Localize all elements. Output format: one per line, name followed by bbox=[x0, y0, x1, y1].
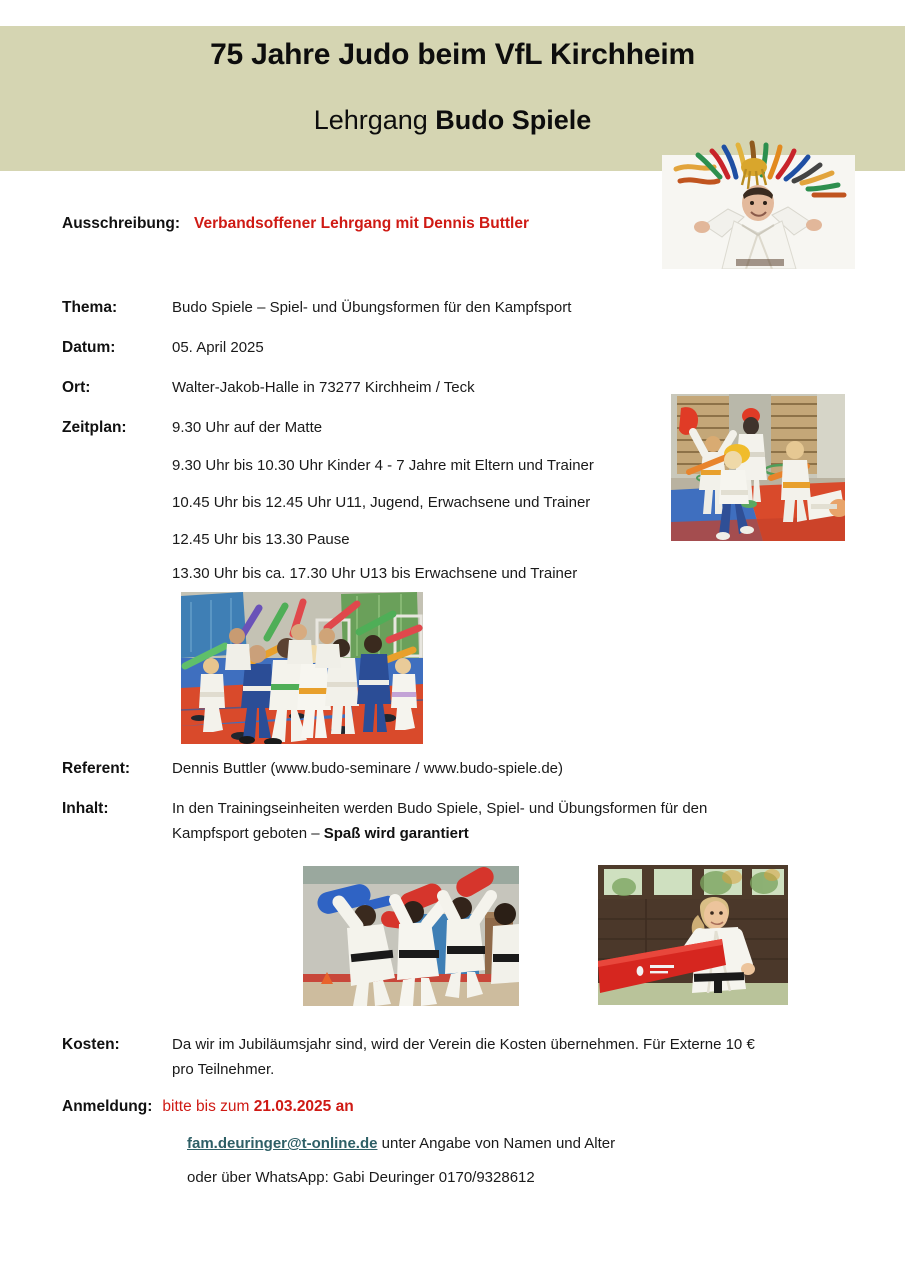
zeitplan-line-1: 9.30 Uhr auf der Matte bbox=[172, 419, 322, 436]
announcement-row: Ausschreibung: Verbandsoffener Lehrgang … bbox=[62, 215, 529, 233]
page-subtitle: Lehrgang Budo Spiele bbox=[0, 105, 905, 136]
ort-label: Ort: bbox=[62, 379, 172, 397]
announcement-value: Verbandsoffener Lehrgang mit Dennis Butt… bbox=[194, 215, 529, 233]
inhalt-line-2: Kampfsport geboten – Spaß wird garantier… bbox=[172, 825, 469, 842]
thema-row: Thema: Budo Spiele – Spiel- und Übungsfo… bbox=[62, 299, 571, 317]
zeitplan-line-3: 10.45 Uhr bis 12.45 Uhr U11, Jugend, Erw… bbox=[172, 494, 590, 511]
datum-value: 05. April 2025 bbox=[172, 339, 264, 356]
inhalt-row: Inhalt: bbox=[62, 800, 172, 818]
inhalt-line-2-bold: Spaß wird garantiert bbox=[324, 825, 469, 842]
children-judo-training-photo bbox=[671, 394, 845, 541]
datum-row: Datum: 05. April 2025 bbox=[62, 339, 264, 357]
black-belts-with-padded-batons-photo bbox=[303, 866, 519, 1006]
judoka-with-flying-belts-photo bbox=[662, 137, 855, 269]
woman-carrying-red-mat-photo bbox=[598, 865, 788, 1005]
anmeldung-label: Anmeldung: bbox=[62, 1098, 152, 1116]
anmeldung-row: Anmeldung: bitte bis zum 21.03.2025 an bbox=[62, 1098, 354, 1116]
anmeldung-whatsapp-line: oder über WhatsApp: Gabi Deuringer 0170/… bbox=[187, 1169, 535, 1186]
anmeldung-deadline: bitte bis zum 21.03.2025 an bbox=[162, 1098, 353, 1116]
announcement-label: Ausschreibung: bbox=[62, 215, 180, 233]
zeitplan-row: Zeitplan: bbox=[62, 419, 172, 437]
thema-label: Thema: bbox=[62, 299, 172, 317]
kosten-line-1: Da wir im Jubiläumsjahr sind, wird der V… bbox=[172, 1036, 755, 1053]
kosten-label: Kosten: bbox=[62, 1036, 172, 1054]
inhalt-line-2-regular: Kampfsport geboten – bbox=[172, 825, 324, 842]
datum-label: Datum: bbox=[62, 339, 172, 357]
thema-value: Budo Spiele – Spiel- und Übungsformen fü… bbox=[172, 299, 571, 316]
email-suffix-text: unter Angabe von Namen und Alter bbox=[377, 1135, 615, 1152]
page-title: 75 Jahre Judo beim VfL Kirchheim bbox=[0, 38, 905, 72]
ort-value: Walter-Jakob-Halle in 73277 Kirchheim / … bbox=[172, 379, 475, 396]
zeitplan-line-5: 13.30 Uhr bis ca. 17.30 Uhr U13 bis Erwa… bbox=[172, 565, 577, 582]
kosten-row: Kosten: bbox=[62, 1036, 172, 1054]
kosten-line-2: pro Teilnehmer. bbox=[172, 1061, 274, 1078]
page-bottom-margin bbox=[0, 1240, 905, 1280]
zeitplan-line-4: 12.45 Uhr bis 13.30 Pause bbox=[172, 531, 350, 548]
referent-value: Dennis Buttler (www.budo-seminare / www.… bbox=[172, 760, 563, 777]
ort-row: Ort: Walter-Jakob-Halle in 73277 Kirchhe… bbox=[62, 379, 475, 397]
anmeldung-deadline-regular: bitte bis zum bbox=[162, 1098, 253, 1115]
anmeldung-email-line: fam.deuringer@t-online.de unter Angabe v… bbox=[187, 1135, 615, 1152]
inhalt-line-1: In den Trainingseinheiten werden Budo Sp… bbox=[172, 800, 707, 817]
email-link[interactable]: fam.deuringer@t-online.de bbox=[187, 1135, 377, 1152]
inhalt-label: Inhalt: bbox=[62, 800, 172, 818]
referent-label: Referent: bbox=[62, 760, 172, 778]
anmeldung-deadline-bold: 21.03.2025 an bbox=[254, 1098, 354, 1115]
zeitplan-line-2: 9.30 Uhr bis 10.30 Uhr Kinder 4 - 7 Jahr… bbox=[172, 457, 594, 474]
page-subtitle-bold: Budo Spiele bbox=[435, 105, 591, 135]
zeitplan-label: Zeitplan: bbox=[62, 419, 172, 437]
referent-row: Referent: Dennis Buttler (www.budo-semin… bbox=[62, 760, 563, 778]
group-with-pool-noodles-photo bbox=[181, 592, 423, 744]
page-subtitle-regular: Lehrgang bbox=[314, 105, 436, 135]
